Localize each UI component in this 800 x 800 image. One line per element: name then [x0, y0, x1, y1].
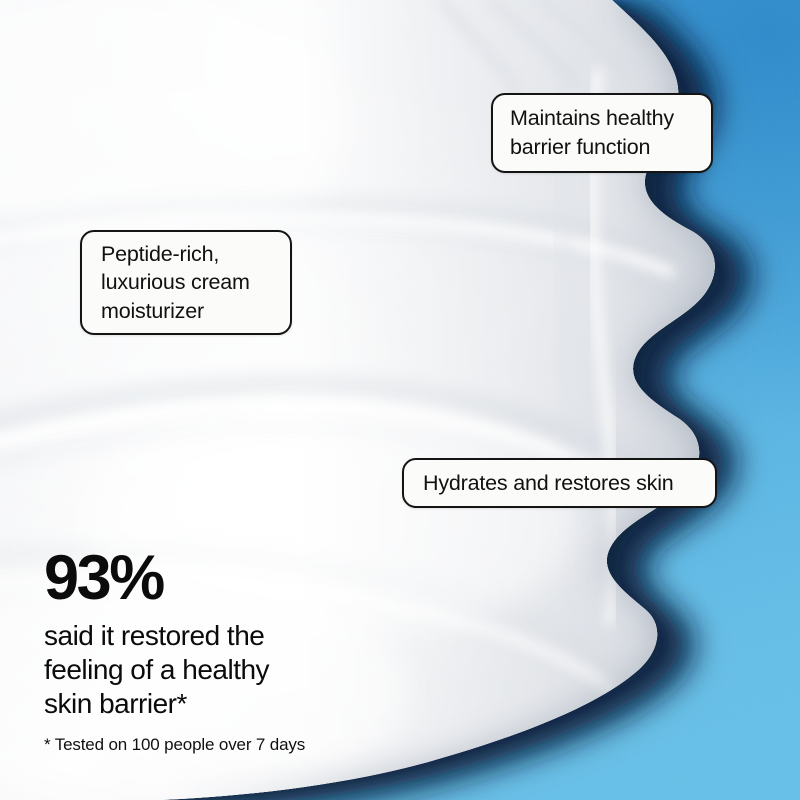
callout-hydrates-restores-text: Hydrates and restores skin: [423, 469, 674, 498]
footnote-disclaimer: * Tested on 100 people over 7 days: [44, 735, 305, 755]
callout-maintains-barrier-text: Maintains healthy barrier function: [510, 104, 674, 161]
product-claim-graphic: Maintains healthy barrier function Pepti…: [0, 0, 800, 800]
callout-peptide-rich-text: Peptide-rich, luxurious cream moisturize…: [101, 240, 250, 326]
callout-maintains-barrier: Maintains healthy barrier function: [491, 93, 713, 173]
statistic-caption: said it restored the feeling of a health…: [44, 619, 474, 721]
statistic-percentage: 93%: [44, 548, 474, 610]
callout-hydrates-restores: Hydrates and restores skin: [402, 458, 717, 508]
statistic-block: 93% said it restored the feeling of a he…: [44, 548, 474, 721]
callout-peptide-rich: Peptide-rich, luxurious cream moisturize…: [80, 230, 292, 335]
